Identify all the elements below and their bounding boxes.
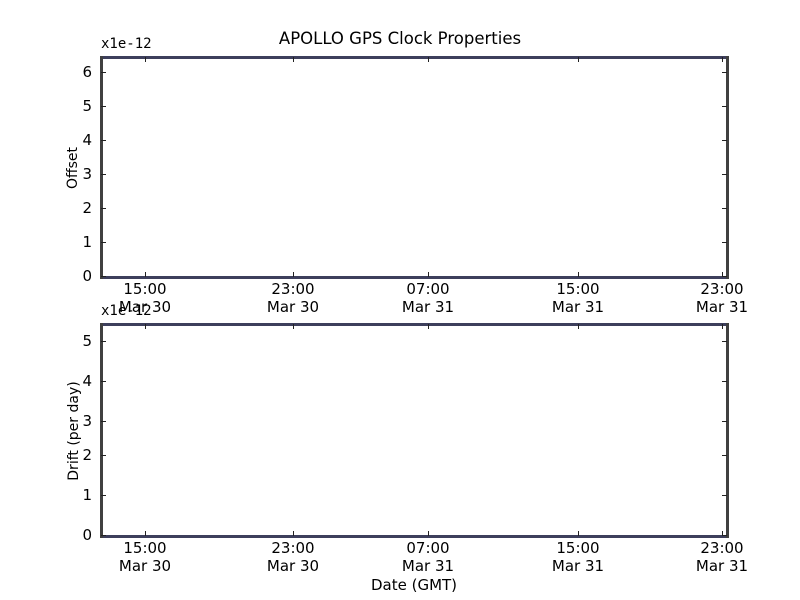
xtick-date: Mar 30 xyxy=(233,557,353,575)
y-tick xyxy=(722,455,727,456)
xtick-date: Mar 30 xyxy=(233,298,353,316)
figure-xlabel: Date (GMT) xyxy=(314,576,514,594)
axes-spine-bottom xyxy=(100,535,729,538)
xtick-time: 15:00 xyxy=(85,280,205,298)
x-tick xyxy=(293,324,294,329)
y-tick xyxy=(101,242,106,243)
drift-plot-exponent-label: x1e-12 xyxy=(101,303,152,319)
y-tick xyxy=(722,276,727,277)
axes-spine-right xyxy=(726,56,729,279)
x-tick xyxy=(578,57,579,62)
offset-plot-xtick-label: 23:00 Mar 31 xyxy=(662,280,782,316)
drift-plot-xtick-label: 07:00 Mar 31 xyxy=(368,539,488,575)
x-tick xyxy=(578,531,579,536)
y-tick xyxy=(101,421,106,422)
offset-plot-ytick-label: 1 xyxy=(61,235,92,250)
drift-plot-axes xyxy=(101,324,727,536)
x-tick xyxy=(722,324,723,329)
axes-spine-top xyxy=(100,323,729,326)
drift-plot-xtick-label: 23:00 Mar 30 xyxy=(233,539,353,575)
xtick-time: 23:00 xyxy=(233,539,353,557)
y-tick xyxy=(722,106,727,107)
y-tick xyxy=(722,381,727,382)
x-tick xyxy=(428,272,429,277)
y-tick xyxy=(101,72,106,73)
x-tick xyxy=(145,57,146,62)
axes-spine-left xyxy=(100,56,103,279)
axes-spine-left xyxy=(100,323,103,538)
matplotlib-figure: APOLLO GPS Clock Properties x1e- xyxy=(0,0,800,600)
y-tick xyxy=(722,208,727,209)
xtick-date: Mar 30 xyxy=(85,557,205,575)
x-tick xyxy=(428,531,429,536)
offset-plot-exponent-label: x1e-12 xyxy=(101,36,152,52)
xtick-date: Mar 31 xyxy=(368,557,488,575)
x-tick xyxy=(293,531,294,536)
x-tick xyxy=(578,324,579,329)
y-tick xyxy=(722,242,727,243)
y-tick xyxy=(101,495,106,496)
y-tick xyxy=(722,72,727,73)
xtick-time: 23:00 xyxy=(662,280,782,298)
xtick-time: 07:00 xyxy=(368,539,488,557)
offset-plot-xtick-label: 15:00 Mar 31 xyxy=(518,280,638,316)
y-tick xyxy=(722,140,727,141)
offset-plot-ytick-label: 5 xyxy=(61,99,92,114)
xtick-date: Mar 31 xyxy=(662,298,782,316)
y-tick xyxy=(101,140,106,141)
y-tick xyxy=(101,381,106,382)
xtick-time: 23:00 xyxy=(662,539,782,557)
x-tick xyxy=(145,324,146,329)
offset-plot-ytick-label: 6 xyxy=(61,65,92,80)
y-tick xyxy=(101,455,106,456)
xtick-date: Mar 31 xyxy=(518,298,638,316)
y-tick xyxy=(722,174,727,175)
x-tick xyxy=(428,324,429,329)
y-tick xyxy=(101,535,106,536)
axes-spine-right xyxy=(726,323,729,538)
x-tick xyxy=(578,272,579,277)
xtick-time: 07:00 xyxy=(368,280,488,298)
xtick-date: Mar 31 xyxy=(518,557,638,575)
drift-plot-xtick-label: 15:00 Mar 30 xyxy=(85,539,205,575)
xtick-date: Mar 31 xyxy=(368,298,488,316)
y-tick xyxy=(101,276,106,277)
y-tick xyxy=(101,208,106,209)
offset-plot-axes xyxy=(101,57,727,277)
xtick-time: 23:00 xyxy=(233,280,353,298)
drift-plot-xtick-label: 23:00 Mar 31 xyxy=(662,539,782,575)
x-tick xyxy=(293,57,294,62)
offset-plot-xtick-label: 07:00 Mar 31 xyxy=(368,280,488,316)
drift-plot-xtick-label: 15:00 Mar 31 xyxy=(518,539,638,575)
axes-spine-bottom xyxy=(100,276,729,279)
y-tick xyxy=(722,341,727,342)
xtick-time: 15:00 xyxy=(518,539,638,557)
xtick-time: 15:00 xyxy=(85,539,205,557)
drift-plot-ylabel: Drift (per day) xyxy=(66,351,82,511)
x-tick xyxy=(145,272,146,277)
y-tick xyxy=(101,174,106,175)
offset-plot-ylabel: Offset xyxy=(65,118,81,218)
x-tick xyxy=(428,57,429,62)
y-tick xyxy=(722,421,727,422)
x-tick xyxy=(145,531,146,536)
axes-spine-top xyxy=(100,56,729,59)
x-tick xyxy=(293,272,294,277)
y-tick xyxy=(722,495,727,496)
offset-plot-xtick-label: 23:00 Mar 30 xyxy=(233,280,353,316)
xtick-date: Mar 31 xyxy=(662,557,782,575)
y-tick xyxy=(722,535,727,536)
xtick-time: 15:00 xyxy=(518,280,638,298)
y-tick xyxy=(101,341,106,342)
x-tick xyxy=(722,57,723,62)
y-tick xyxy=(101,106,106,107)
drift-plot-ytick-label: 5 xyxy=(61,334,92,349)
